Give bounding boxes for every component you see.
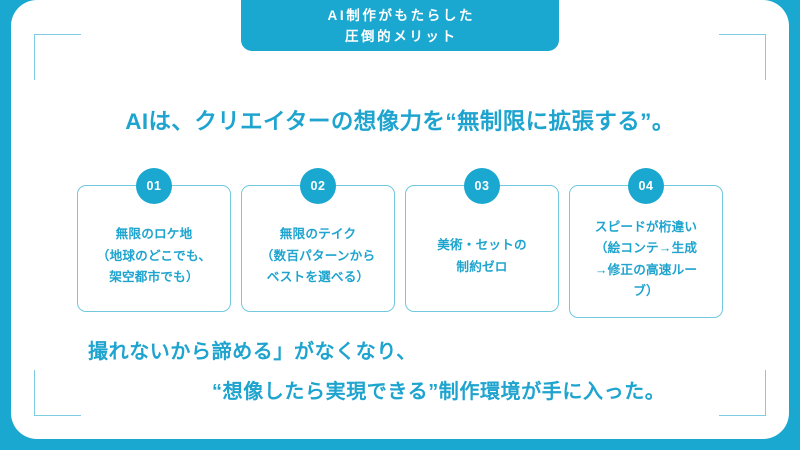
benefit-card-list: 01 無限のロケ地 （地球のどこでも、 架空都市でも） 02 無限のテイク （数…: [77, 185, 724, 318]
corner-bracket-top-left: [34, 34, 81, 80]
card-text-03: 美術・セットの 制約ゼロ: [437, 235, 527, 278]
card-line: →修正の高速ルー: [595, 260, 697, 282]
closing-line-1: 撮れないから諦める」がなくなり、: [0, 332, 800, 372]
benefit-card-02: 02 無限のテイク （数百パターンから ベストを選べる）: [241, 185, 395, 312]
card-line: （絵コンテ→生成: [595, 238, 697, 260]
card-line: 架空都市でも）: [97, 267, 211, 289]
card-number-badge-01: 01: [136, 168, 172, 204]
benefit-card-03: 03 美術・セットの 制約ゼロ: [405, 185, 559, 312]
card-line: 美術・セットの: [437, 235, 527, 257]
card-line: ブ）: [595, 281, 697, 303]
card-line: ベストを選べる）: [261, 267, 376, 289]
slide: AI制作がもたらした 圧倒的メリット AIは、クリエイターの想像力を“無制限に拡…: [0, 0, 800, 450]
corner-bracket-top-right: [719, 34, 766, 80]
title-banner-line-2: 圧倒的メリット: [342, 26, 457, 47]
card-line: スピードが桁違い: [595, 217, 697, 239]
card-text-01: 無限のロケ地 （地球のどこでも、 架空都市でも）: [97, 224, 211, 289]
card-line: 無限のテイク: [261, 224, 376, 246]
closing-copy: 撮れないから諦める」がなくなり、 “想像したら実現できる”制作環境が手に入った。: [0, 332, 800, 412]
headline: AIは、クリエイターの想像力を“無制限に拡張する”。: [0, 104, 800, 136]
card-number-badge-02: 02: [300, 168, 336, 204]
card-line: 無限のロケ地: [97, 224, 211, 246]
card-line: （地球のどこでも、: [97, 246, 211, 268]
benefit-card-01: 01 無限のロケ地 （地球のどこでも、 架空都市でも）: [77, 185, 231, 312]
title-banner: AI制作がもたらした 圧倒的メリット: [241, 0, 559, 51]
closing-line-2: “想像したら実現できる”制作環境が手に入った。: [0, 372, 800, 412]
card-number-badge-04: 04: [628, 168, 664, 204]
title-banner-line-1: AI制作がもたらした: [325, 5, 475, 26]
card-text-02: 無限のテイク （数百パターンから ベストを選べる）: [261, 224, 376, 289]
card-text-04: スピードが桁違い （絵コンテ→生成 →修正の高速ルー ブ）: [595, 217, 697, 303]
card-number-badge-03: 03: [464, 168, 500, 204]
benefit-card-04: 04 スピードが桁違い （絵コンテ→生成 →修正の高速ルー ブ）: [569, 185, 723, 318]
card-line: 制約ゼロ: [437, 257, 527, 279]
card-line: （数百パターンから: [261, 246, 376, 268]
